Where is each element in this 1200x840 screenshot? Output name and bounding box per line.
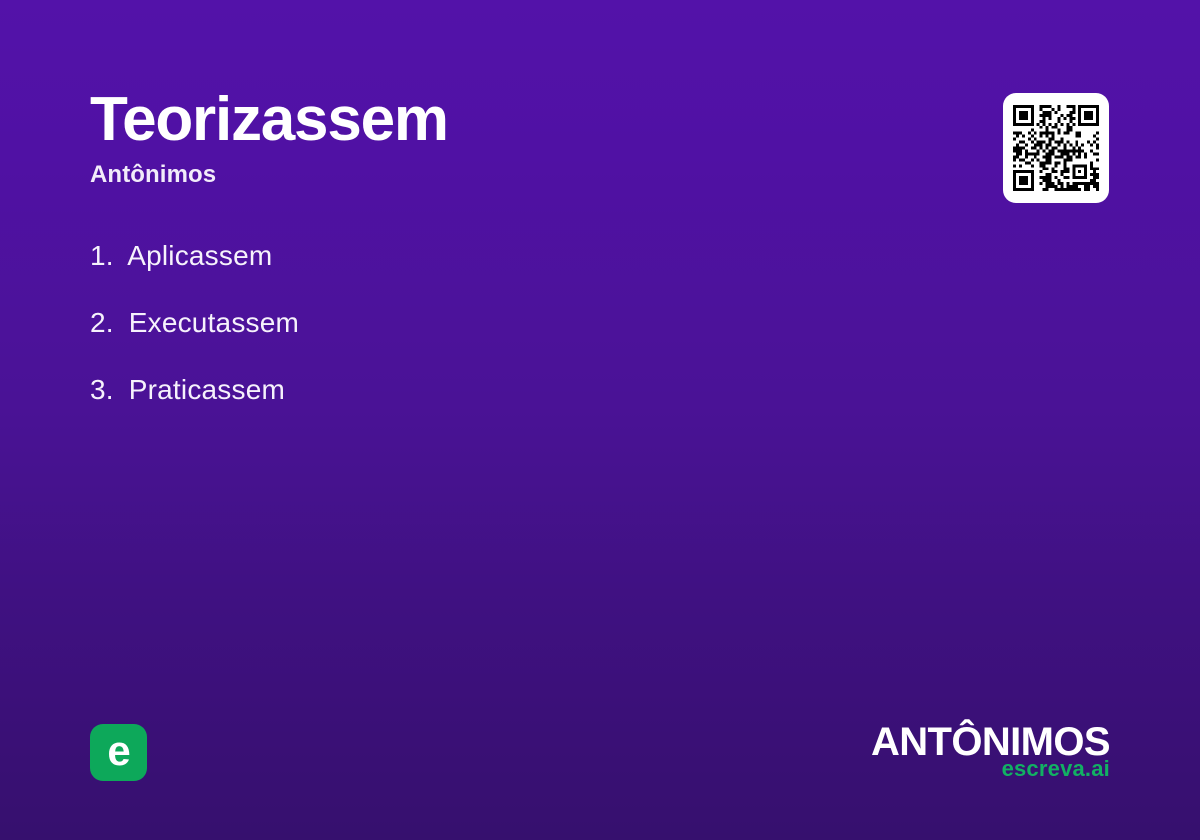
qr-code-icon [1013, 105, 1099, 191]
list-item: 1. Aplicassem [90, 236, 890, 303]
brand-mark-letter: e [107, 730, 129, 772]
list-item-word: Aplicassem [127, 240, 272, 271]
list-item-index: 2. [90, 307, 114, 338]
list-item-word: Executassem [129, 307, 299, 338]
header: Teorizassem Antônimos [90, 88, 910, 189]
escreva-logo-icon[interactable]: e [90, 724, 147, 781]
list-item-index: 1. [90, 240, 114, 271]
list-item: 3. Praticassem [90, 370, 890, 437]
word-category-label: Antônimos [90, 161, 910, 189]
list-item-word: Praticassem [129, 374, 285, 405]
list-item-index: 3. [90, 374, 114, 405]
brand-wordmark: ANTÔNIMOS escreva.ai [871, 722, 1110, 780]
antonym-card: Teorizassem Antônimos 1. Aplicassem 2. E… [0, 0, 1200, 840]
antonym-list: 1. Aplicassem 2. Executassem 3. Praticas… [90, 236, 890, 437]
qr-code-card[interactable] [1003, 93, 1109, 203]
list-item: 2. Executassem [90, 303, 890, 370]
page-title: Teorizassem [90, 88, 910, 151]
